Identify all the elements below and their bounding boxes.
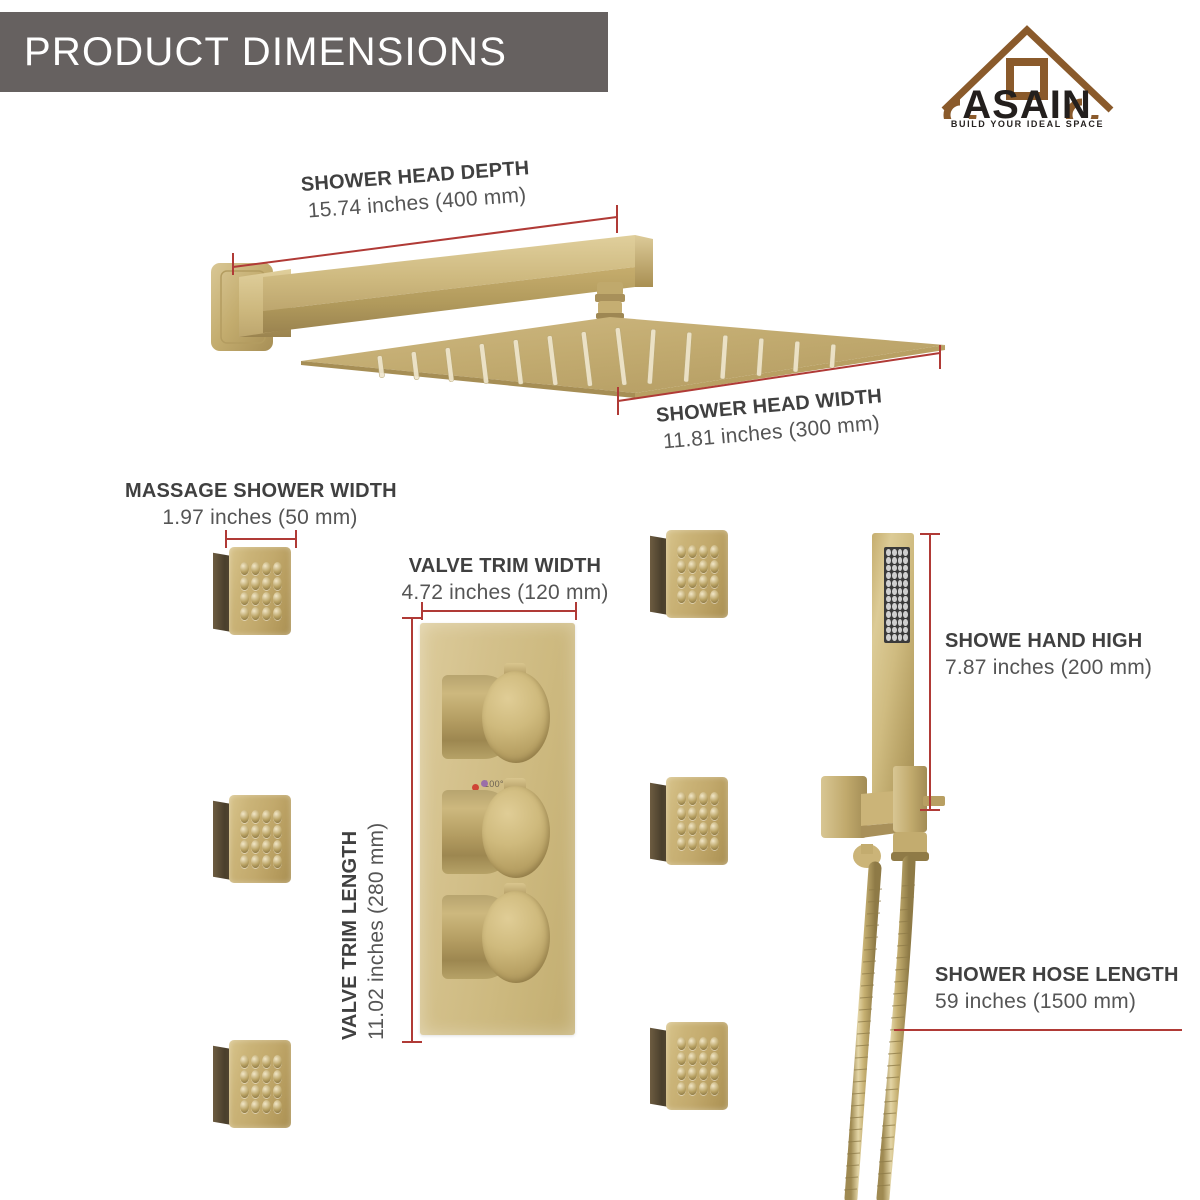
jet-nozzle-grid [677, 1037, 719, 1095]
label-shower-hand-high: SHOWE HAND HIGH 7.87 inches (200 mm) [945, 628, 1152, 682]
wand-nozzle-face [884, 547, 910, 643]
jet-nozzle-grid [240, 562, 282, 620]
label-massage-shower-width: MASSAGE SHOWER WIDTH 1.97 inches (50 mm) [125, 478, 395, 532]
jet-nozzle-grid [677, 545, 719, 603]
valve-trim-length-dimension [400, 612, 424, 1048]
svg-text:ASAIN: ASAIN [962, 83, 1091, 119]
brand-tagline: BUILD YOUR IDEAL SPACE [930, 119, 1125, 129]
brand-logo: ASAIN BUILD YOUR IDEAL SPACE [930, 14, 1125, 139]
casainc-logo-icon: ASAIN [930, 14, 1125, 119]
massage-jet [650, 528, 728, 620]
massage-jet [213, 1038, 291, 1130]
jet-nozzle-grid [240, 810, 282, 868]
valve-knob-top[interactable] [442, 671, 550, 763]
massage-jet [213, 545, 291, 637]
knob-cap [482, 891, 550, 983]
jet-nozzle-grid [677, 792, 719, 850]
shower-hose-length-leader [890, 1020, 1190, 1040]
massage-jet [650, 775, 728, 867]
valve-knob-middle[interactable] [442, 786, 550, 878]
label-shower-hose-length: SHOWER HOSE LENGTH 59 inches (1500 mm) [935, 962, 1179, 1016]
header-banner: PRODUCT DIMENSIONS [0, 12, 608, 92]
page-title: PRODUCT DIMENSIONS [0, 30, 507, 75]
valve-trim-plate: 100°F [420, 623, 575, 1035]
massage-jet [650, 1020, 728, 1112]
product-dimensions-diagram: PRODUCT DIMENSIONS ASAIN BUILD YOUR IDEA… [0, 0, 1200, 1200]
knob-cap [482, 786, 550, 878]
knob-cap [482, 671, 550, 763]
label-valve-trim-length: VALVE TRIM LENGTH 11.02 inches (280 mm) [337, 823, 391, 1040]
jet-nozzle-grid [240, 1055, 282, 1113]
massage-jet [213, 793, 291, 885]
shower-hand-high-dimension [918, 528, 942, 816]
valve-knob-bottom[interactable] [442, 891, 550, 983]
label-valve-trim-width: VALVE TRIM WIDTH 4.72 inches (120 mm) [370, 553, 640, 607]
